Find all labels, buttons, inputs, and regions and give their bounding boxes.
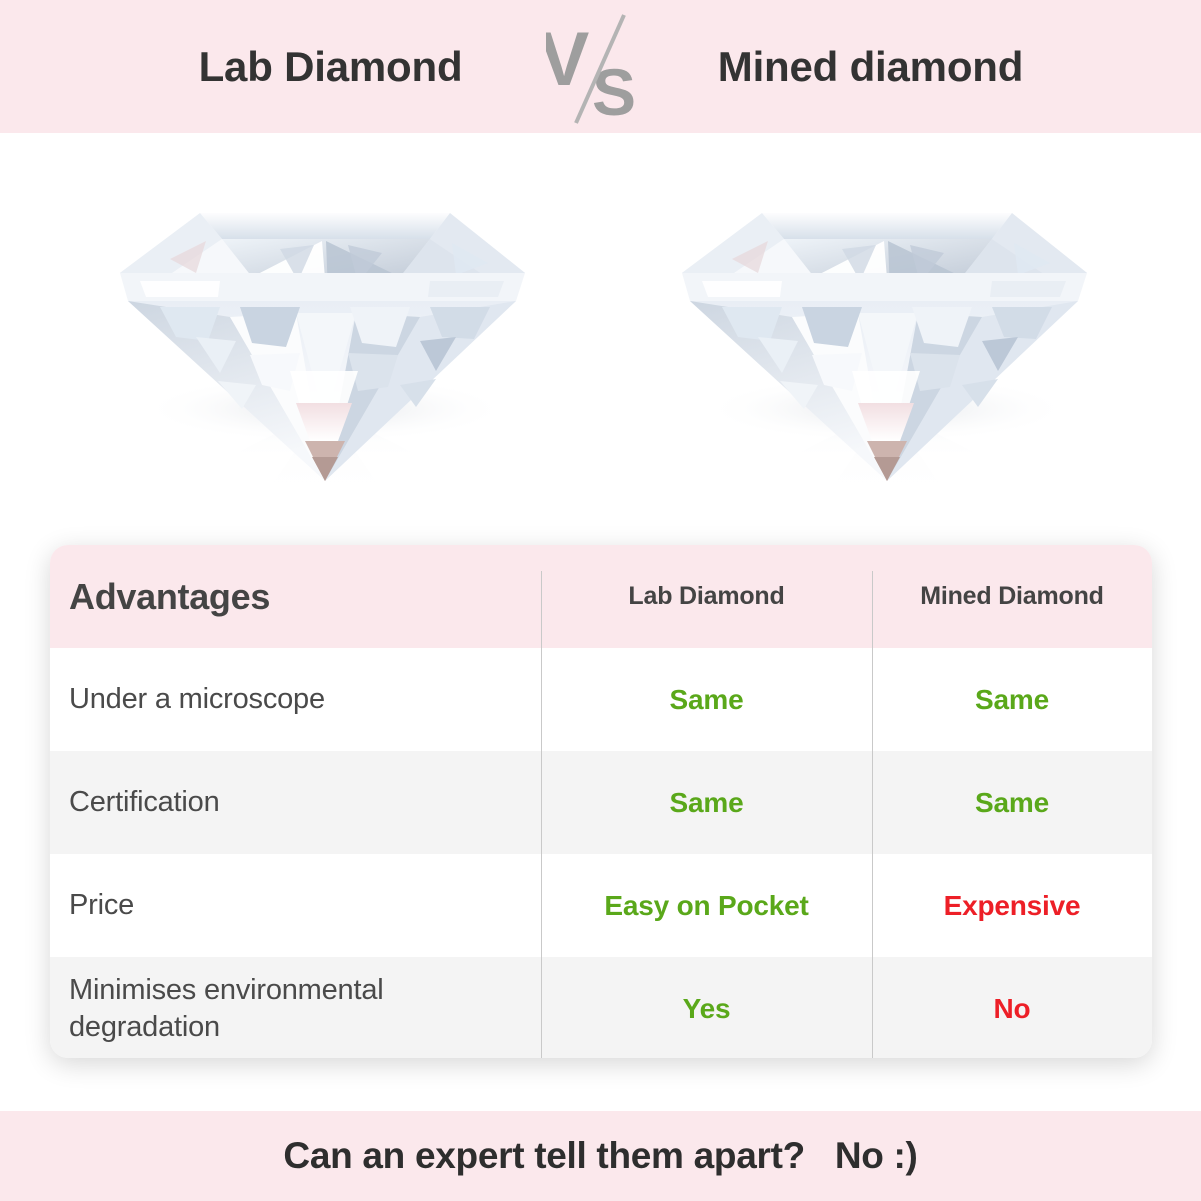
header-label-lab-diamond: Lab Diamond	[628, 582, 784, 611]
lab-value: Easy on Pocket	[604, 890, 808, 922]
table-row: Certification Same Same	[50, 751, 1152, 854]
header-label-advantages: Advantages	[69, 576, 270, 618]
vs-icon: V S	[546, 7, 656, 127]
mined-value: Expensive	[944, 890, 1081, 922]
cell-lab-value: Yes	[541, 957, 872, 1058]
diamond-gallery	[0, 133, 1201, 530]
cell-mined-value: Same	[872, 751, 1152, 854]
cell-feature: Under a microscope	[50, 648, 541, 751]
table-header-row: Advantages Lab Diamond Mined Diamond	[50, 545, 1152, 648]
footer-question: Can an expert tell them apart? No :)	[283, 1135, 917, 1177]
header-cell-lab-diamond: Lab Diamond	[541, 545, 872, 648]
mined-diamond-image	[662, 141, 1102, 531]
cell-feature: Price	[50, 854, 541, 957]
lab-value: Same	[670, 684, 744, 716]
lab-value: Same	[670, 787, 744, 819]
table-row: Price Easy on Pocket Expensive	[50, 854, 1152, 957]
table-row: Under a microscope Same Same	[50, 648, 1152, 751]
header-banner-inner: Lab Diamond V S Mined diamond	[0, 7, 1201, 127]
header-title-mined-diamond: Mined diamond	[656, 43, 1086, 91]
diamond-icon-lab	[100, 141, 540, 531]
comparison-table: Advantages Lab Diamond Mined Diamond Und…	[50, 545, 1152, 1058]
footer-banner: Can an expert tell them apart? No :)	[0, 1111, 1201, 1201]
cell-lab-value: Easy on Pocket	[541, 854, 872, 957]
table-row: Minimises environmental degradation Yes …	[50, 957, 1152, 1058]
cell-feature: Certification	[50, 751, 541, 854]
cell-mined-value: No	[872, 957, 1152, 1058]
feature-label: Under a microscope	[69, 681, 325, 718]
mined-value: No	[994, 993, 1031, 1025]
column-divider-2	[872, 571, 873, 1058]
lab-diamond-image	[100, 141, 540, 531]
header-title-lab-diamond: Lab Diamond	[116, 43, 546, 91]
lab-value: Yes	[683, 993, 731, 1025]
versus-badge: V S	[546, 7, 656, 127]
cell-mined-value: Same	[872, 648, 1152, 751]
header-banner: Lab Diamond V S Mined diamond	[0, 0, 1201, 133]
cell-mined-value: Expensive	[872, 854, 1152, 957]
column-divider-1	[541, 571, 542, 1058]
cell-lab-value: Same	[541, 751, 872, 854]
cell-lab-value: Same	[541, 648, 872, 751]
diamond-icon-mined	[662, 141, 1102, 531]
svg-text:V: V	[546, 17, 590, 102]
header-cell-mined-diamond: Mined Diamond	[872, 545, 1152, 648]
feature-label: Minimises environmental degradation	[69, 972, 541, 1046]
cell-feature: Minimises environmental degradation	[50, 957, 541, 1058]
feature-label: Certification	[69, 784, 220, 821]
mined-value: Same	[975, 787, 1049, 819]
header-label-mined-diamond: Mined Diamond	[920, 582, 1104, 611]
svg-text:S: S	[591, 55, 635, 127]
header-cell-advantages: Advantages	[50, 545, 541, 648]
feature-label: Price	[69, 887, 134, 924]
mined-value: Same	[975, 684, 1049, 716]
